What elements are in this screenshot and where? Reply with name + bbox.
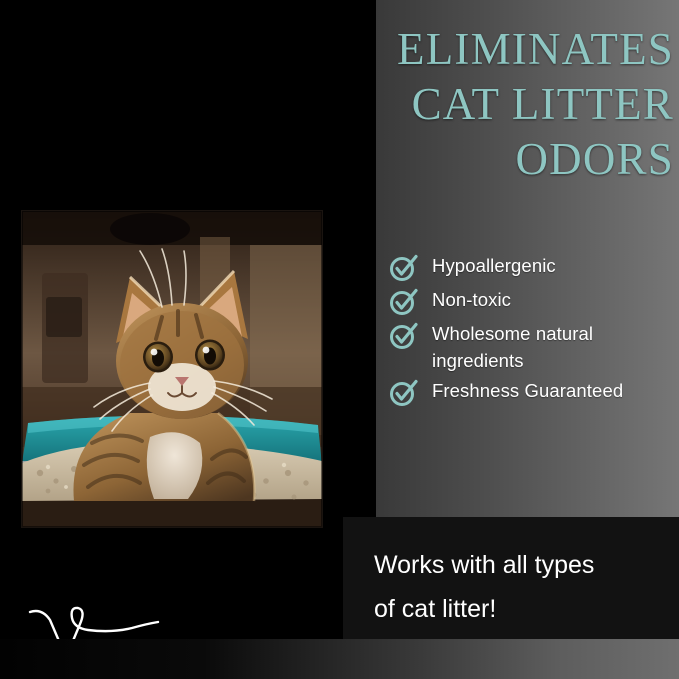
cat-photo-illustration (22, 211, 322, 527)
feature-label: Wholesome natural ingredients (432, 320, 676, 374)
headline-line-2: CAT LITTER (290, 77, 674, 132)
headline-line-3: ODORS (290, 132, 674, 187)
check-circle-icon (388, 287, 418, 317)
feature-label: Freshness Guaranteed (432, 377, 623, 404)
works-with-text: Works with all types of cat litter! (374, 543, 659, 631)
bottom-gradient-strip (0, 639, 679, 679)
feature-item: Non-toxic (388, 286, 676, 317)
feature-item: Wholesome natural ingredients (388, 320, 676, 374)
product-advertisement: ELIMINATES CAT LITTER ODORS (0, 0, 679, 679)
works-with-line-1: Works with all types (374, 543, 659, 587)
check-circle-icon (388, 378, 418, 408)
feature-list: Hypoallergenic Non-toxic Wholesome natur… (388, 252, 676, 411)
cat-photo (22, 211, 322, 527)
check-circle-icon (388, 253, 418, 283)
feature-label: Hypoallergenic (432, 252, 556, 279)
works-with-line-2: of cat litter! (374, 587, 659, 631)
check-circle-icon (388, 321, 418, 351)
headline: ELIMINATES CAT LITTER ODORS (290, 22, 674, 187)
feature-item: Freshness Guaranteed (388, 377, 676, 408)
headline-line-1: ELIMINATES (290, 22, 674, 77)
feature-item: Hypoallergenic (388, 252, 676, 283)
feature-label: Non-toxic (432, 286, 511, 313)
works-with-panel: Works with all types of cat litter! (343, 517, 679, 639)
